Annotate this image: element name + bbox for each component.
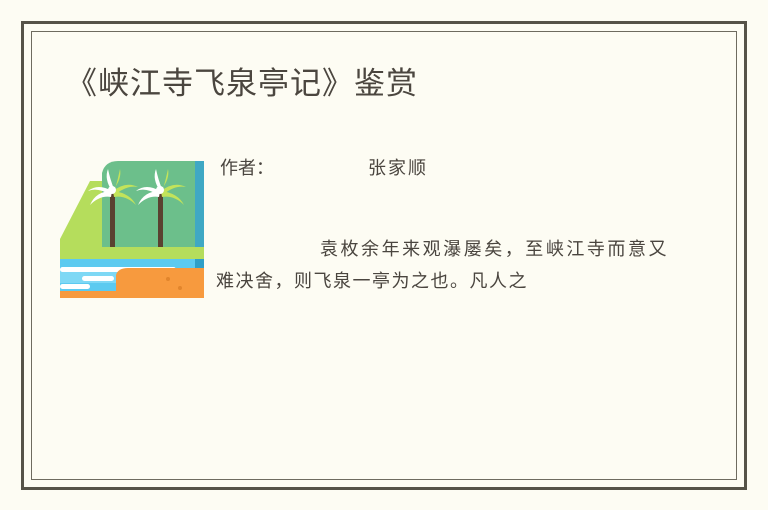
author-name: 张家顺 [368,154,428,180]
article-text-block: 作者： 张家顺 袁枚余年来观瀑屡矣，至峡江寺而意又难决舍，则飞泉一亭为之也。凡人… [220,142,680,188]
author-label: 作者： [220,154,274,180]
article-body: 袁枚余年来观瀑屡矣，至峡江寺而意又难决舍，则飞泉一亭为之也。凡人之 [216,234,668,298]
page-title: 《峡江寺飞泉亭记》鉴赏 [66,64,418,104]
page-canvas: 《峡江寺飞泉亭记》鉴赏 [0,0,768,510]
author-line: 作者： 张家顺 [220,142,680,188]
beach-island-illustration [60,143,208,298]
card-content: 《峡江寺飞泉亭记》鉴赏 [32,32,736,479]
article-body-paragraph: 袁枚余年来观瀑屡矣，至峡江寺而意又难决舍，则飞泉一亭为之也。凡人之 [216,234,668,298]
